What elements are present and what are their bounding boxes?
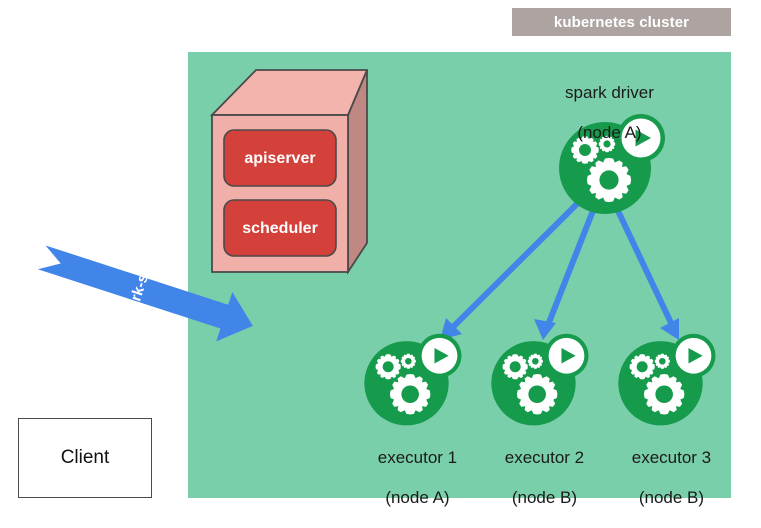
driver-executor-connectors bbox=[440, 182, 679, 340]
spark-driver-caption-line2: (node A) bbox=[577, 123, 641, 142]
executor-3-caption-line1: executor 3 bbox=[632, 448, 711, 467]
executor-3-caption: executor 3 (node B) bbox=[597, 428, 727, 528]
control-plane-cube bbox=[212, 70, 367, 272]
executor-1-caption-line1: executor 1 bbox=[378, 448, 457, 467]
spark-driver-caption-line1: spark driver bbox=[565, 83, 654, 102]
executor-2-caption-line2: (node B) bbox=[512, 488, 577, 507]
executor-3-node bbox=[618, 334, 715, 426]
executor-2-caption: executor 2 (node B) bbox=[470, 428, 600, 528]
executor-1-caption-line2: (node A) bbox=[385, 488, 449, 507]
executor-3-caption-line2: (node B) bbox=[639, 488, 704, 507]
executor-2-node bbox=[491, 334, 588, 426]
executor-1-node bbox=[364, 334, 461, 426]
apiserver-label: apiserver bbox=[220, 150, 340, 168]
executor-1-caption: executor 1 (node A) bbox=[343, 428, 473, 528]
executor-2-caption-line1: executor 2 bbox=[505, 448, 584, 467]
scheduler-label: scheduler bbox=[220, 220, 340, 238]
diagram-canvas: kubernetes cluster Client bbox=[0, 0, 761, 516]
spark-driver-caption: spark driver (node A) bbox=[525, 63, 675, 163]
